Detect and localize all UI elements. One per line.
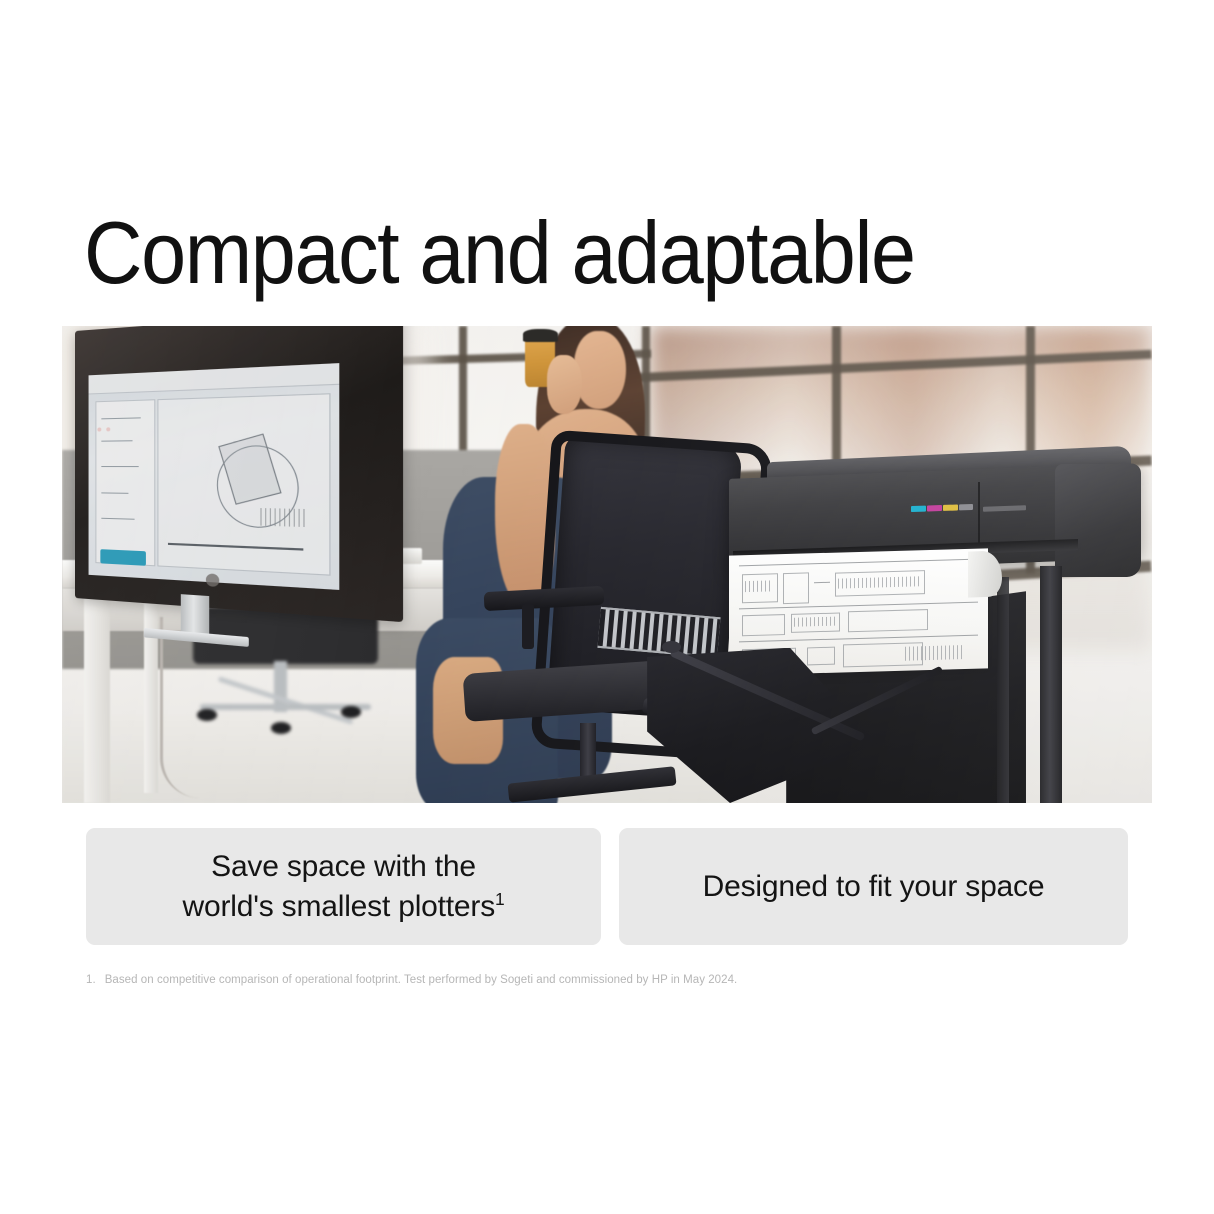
person-hand xyxy=(547,355,582,413)
ink-indicator-black xyxy=(958,504,973,510)
chair-caster xyxy=(197,709,217,721)
coffee-cup-lid xyxy=(523,329,558,342)
caption-text: Designed to fit your space xyxy=(703,867,1045,907)
footnote: 1.Based on competitive comparison of ope… xyxy=(86,972,737,988)
ink-indicator-magenta xyxy=(927,505,942,511)
caption-footnote-marker: 1 xyxy=(495,889,504,909)
plotter-ink-compartment xyxy=(1055,464,1141,577)
large-format-plotter xyxy=(662,450,1142,803)
plotter-tray-knob xyxy=(662,641,681,653)
desktop-monitor xyxy=(75,326,403,622)
person-face xyxy=(574,331,626,409)
chair-caster xyxy=(341,706,361,718)
hero-photo-scene xyxy=(62,326,1152,803)
background-office-chair xyxy=(193,607,378,741)
caption-line-1: Save space with the xyxy=(211,850,476,883)
footnote-text: Based on competitive comparison of opera… xyxy=(105,974,738,986)
ink-indicator-yellow xyxy=(943,504,958,510)
plotter-stand-leg xyxy=(1040,566,1062,802)
plotter-stand-leg xyxy=(997,577,1009,803)
monitor-screen-cad-app xyxy=(89,363,339,589)
cad-drawing-canvas xyxy=(157,393,330,576)
caption-card-designed-to-fit: Designed to fit your space xyxy=(619,828,1128,945)
caption-text: Save space with the world's smallest plo… xyxy=(183,847,505,926)
slide-root: Compact and adaptable xyxy=(0,0,1214,1214)
ink-indicator-cyan xyxy=(911,505,926,511)
chair-armrest-post xyxy=(522,604,534,649)
monitor-stand xyxy=(181,594,209,636)
cad-left-panel xyxy=(96,399,155,566)
desk-leg xyxy=(84,588,110,803)
monitor-logo xyxy=(206,573,219,587)
page-title: Compact and adaptable xyxy=(84,209,915,297)
caption-card-save-space: Save space with the world's smallest plo… xyxy=(86,828,601,945)
cad-primary-button xyxy=(100,549,146,565)
caption-line-2: world's smallest plotters xyxy=(183,890,496,923)
caption-row: Save space with the world's smallest plo… xyxy=(86,828,1128,945)
chair-caster xyxy=(271,722,291,734)
caption-line-1: Designed to fit your space xyxy=(703,870,1045,903)
footnote-number: 1. xyxy=(86,974,96,986)
hero-photo xyxy=(62,326,1152,803)
